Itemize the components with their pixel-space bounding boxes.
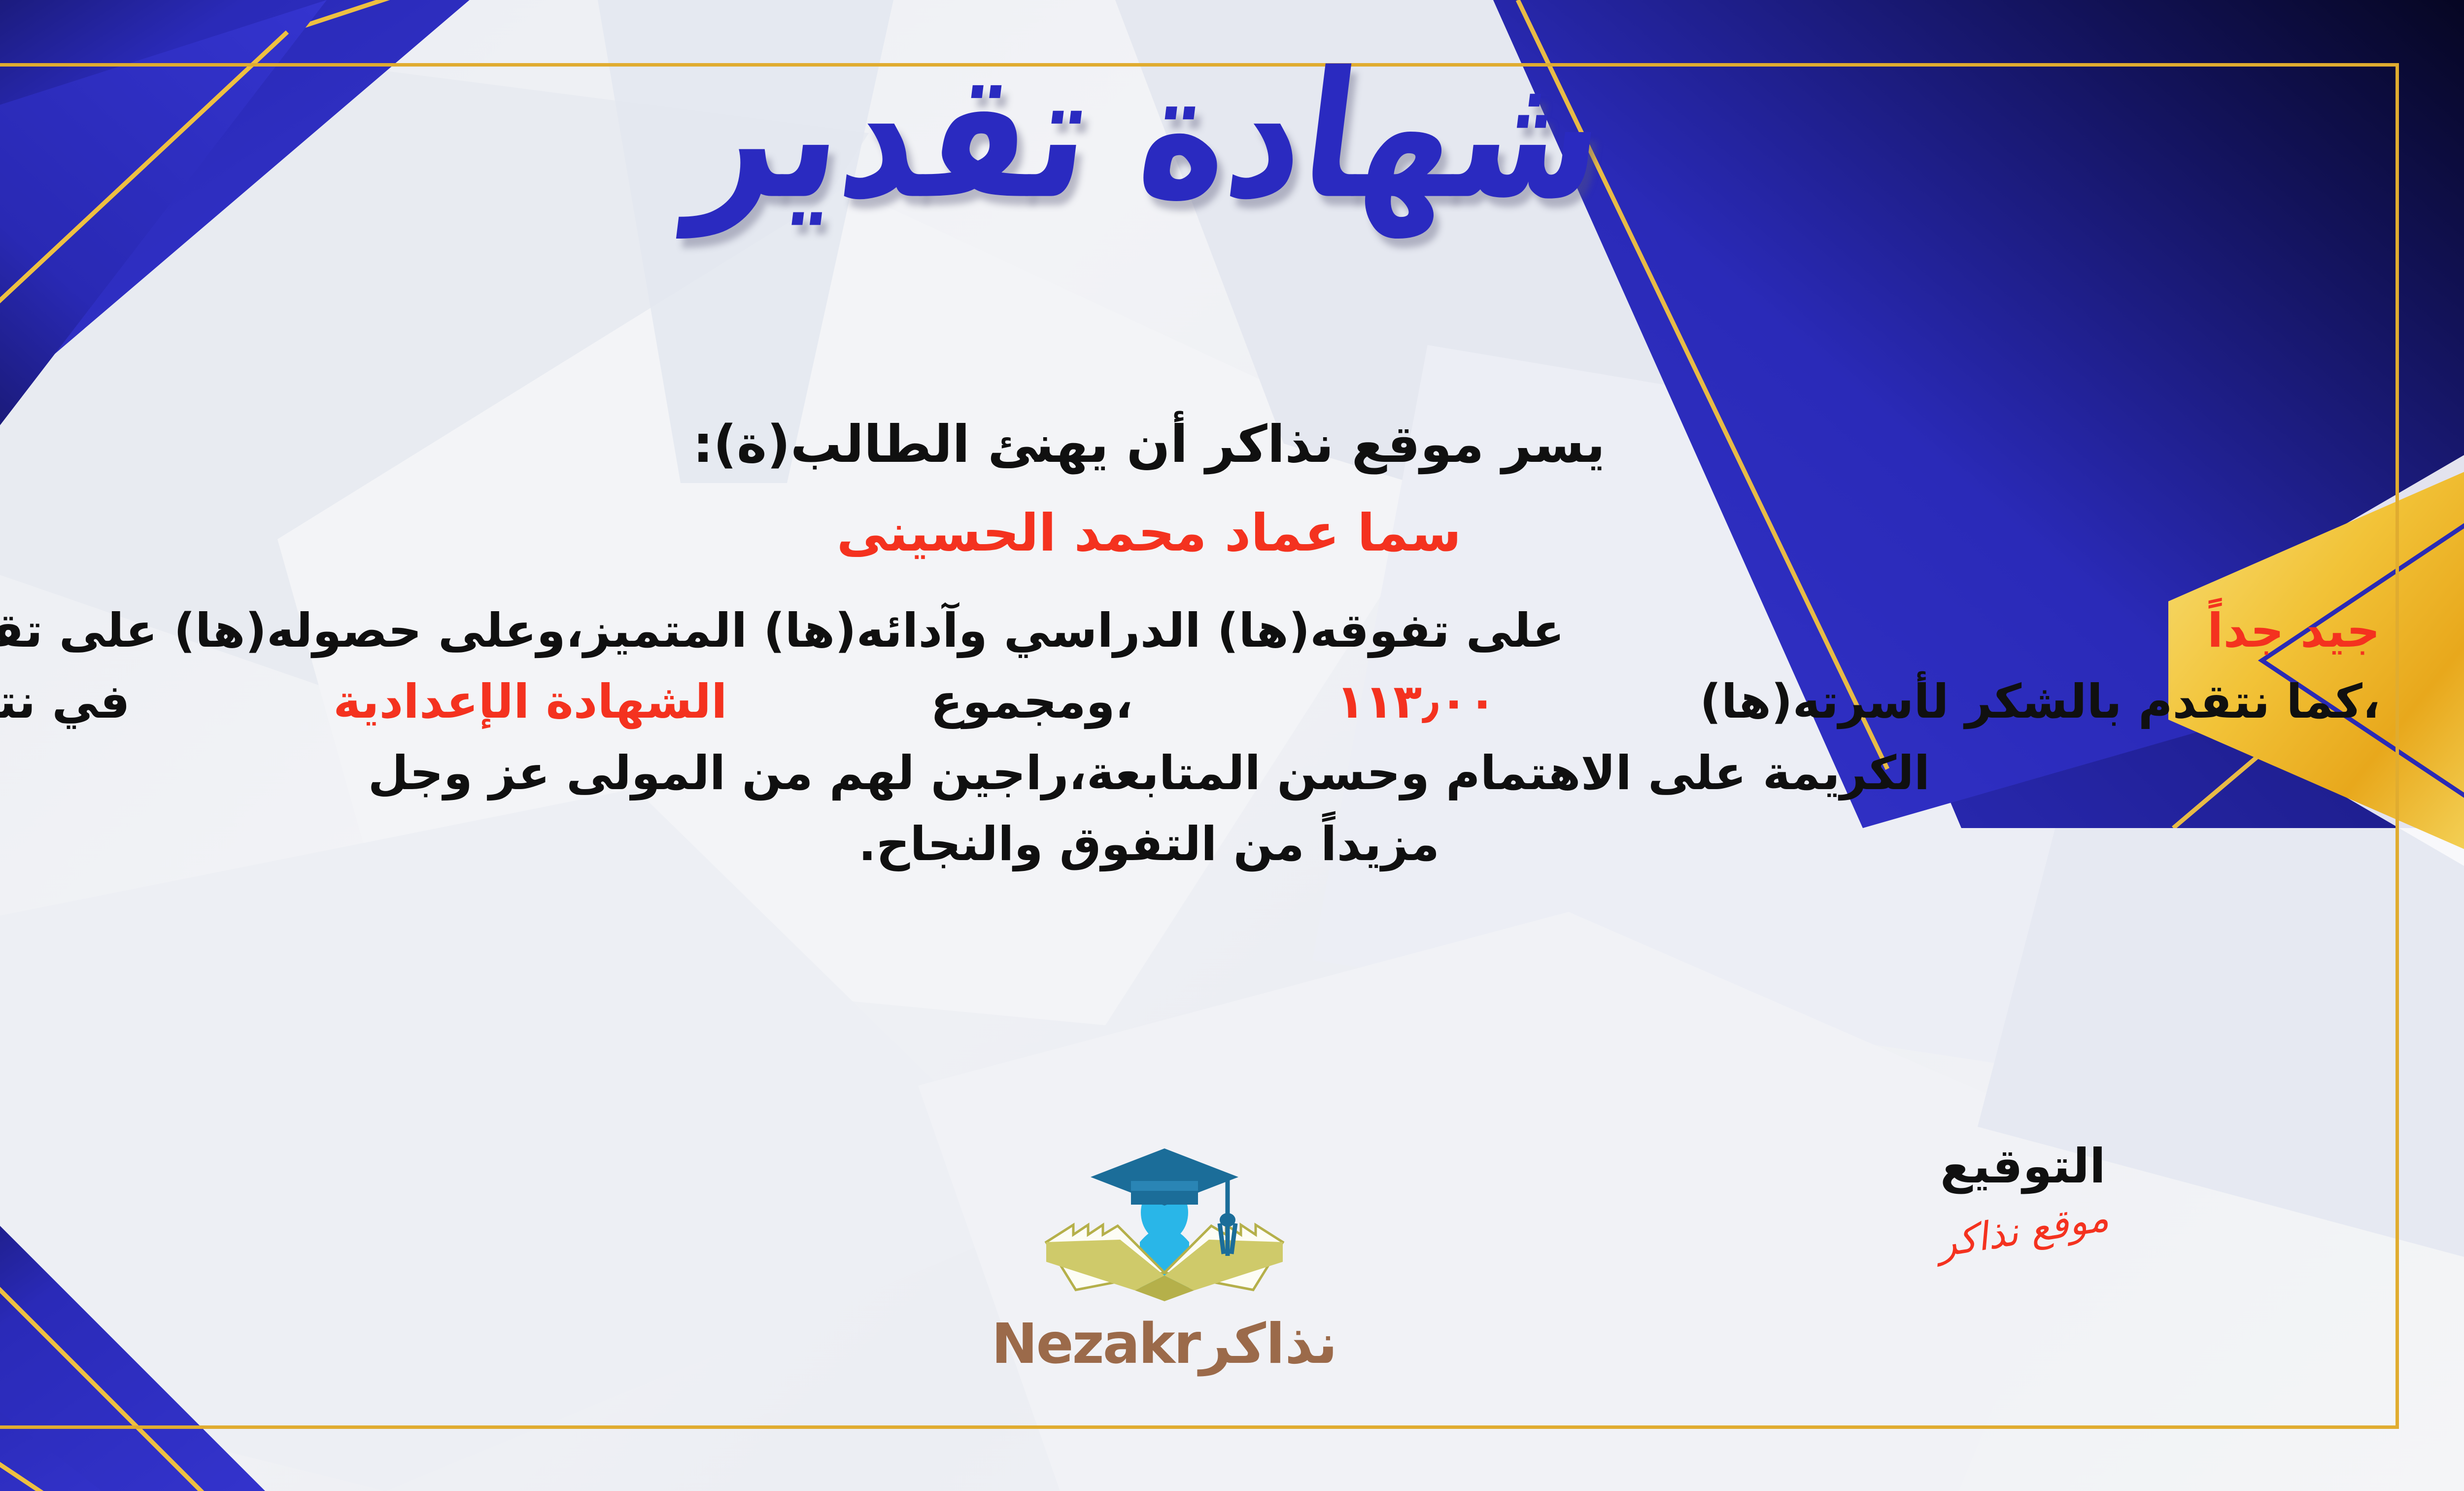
- citation-line-1: جيد جداً على تفوقه(ها) الدراسي وآدائه(ها…: [0, 595, 2380, 666]
- citation-line-4: مزيداً من التفوق والنجاح.: [0, 809, 2380, 880]
- grade-value: جيد جداً: [2207, 595, 2380, 666]
- graduate-open-book-icon: [1027, 1119, 1302, 1316]
- citation-line-1-text: على تفوقه(ها) الدراسي وآدائه(ها) المتميز…: [0, 595, 1565, 666]
- greeting-line: يسر موقع نذاكر أن يهنئ الطالب(ة):: [0, 414, 2380, 474]
- nezakr-logo: Nezakrنذاكر: [943, 1119, 1386, 1424]
- certificate-page: شهادة تقدير يسر موقع نذاكر أن يهنئ الطال…: [0, 0, 2464, 1491]
- exam-name: الشهادة الإعدادية: [333, 666, 727, 737]
- citation-line-3: الكريمة على الاهتمام وحسن المتابعة،راجين…: [0, 738, 2380, 809]
- certificate-body: يسر موقع نذاكر أن يهنئ الطالب(ة): سما عم…: [0, 414, 2380, 880]
- signature-block: التوقيع موقع نذاكر: [1937, 1139, 2109, 1253]
- page-title: شهادة تقدير: [684, 44, 1614, 228]
- citation-line-2-head: في نتيجة: [0, 666, 130, 737]
- signature-label: التوقيع: [1937, 1139, 2109, 1194]
- citation-line-2: ،كما نتقدم بالشكر لأسرته(ها) ١١٣٫٠٠ ،ومج…: [0, 666, 2380, 737]
- title-container: شهادة تقدير: [0, 58, 2464, 213]
- citation-line-2-tail: ،كما نتقدم بالشكر لأسرته(ها): [1700, 666, 2380, 737]
- total-label: ،ومجموع: [930, 666, 1133, 737]
- citation-paragraph: جيد جداً على تفوقه(ها) الدراسي وآدائه(ها…: [0, 595, 2380, 880]
- total-score-value: ١١٣٫٠٠: [1336, 666, 1496, 737]
- student-name: سما عماد محمد الحسينى: [0, 503, 2380, 563]
- logo-wordmark: Nezakrنذاكر: [943, 1312, 1386, 1376]
